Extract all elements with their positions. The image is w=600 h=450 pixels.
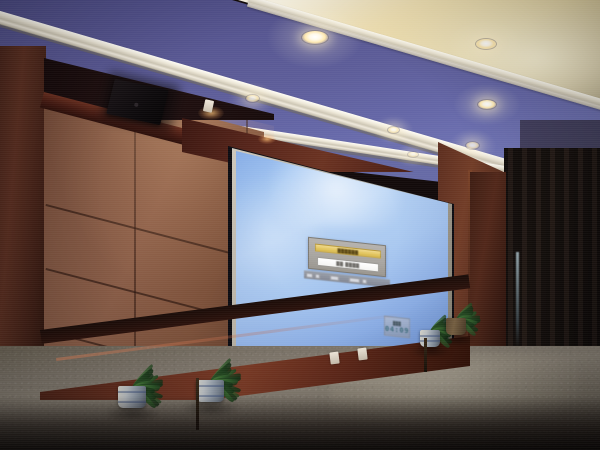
clock-widget-time: 04:09 bbox=[385, 324, 409, 335]
login-dialog-title-bar: ██████ bbox=[315, 244, 381, 259]
pot-decorative-band bbox=[196, 385, 224, 387]
room-photo-scene: ██████ ██ ████ ███ 04:09 bbox=[0, 0, 600, 450]
login-dialog-title-text: ██████ bbox=[338, 247, 359, 254]
taskbar-item[interactable] bbox=[362, 278, 367, 284]
taskbar-item[interactable] bbox=[315, 273, 320, 279]
plant-right bbox=[446, 292, 498, 341]
wall-plate-lower-right bbox=[357, 347, 367, 360]
wall-plate-lower-left bbox=[329, 351, 339, 364]
downlight-7-lamp bbox=[476, 39, 496, 49]
pot-decorative-band bbox=[118, 391, 146, 393]
curtain-light-gap bbox=[516, 252, 519, 348]
taskbar-item[interactable] bbox=[306, 272, 313, 278]
plant-pot bbox=[446, 318, 466, 335]
downlight-6-lamp bbox=[466, 142, 479, 149]
downlight-4-lamp bbox=[408, 152, 418, 157]
taskbar-item[interactable] bbox=[330, 275, 339, 281]
downlight-5-lamp bbox=[478, 100, 496, 109]
downlight-2-lamp bbox=[246, 95, 259, 102]
plant-stand-pole bbox=[424, 338, 427, 372]
clock-widget[interactable]: ███ 04:09 bbox=[384, 316, 410, 339]
wall-spot-glow-2 bbox=[258, 134, 276, 144]
login-dialog-input-text: ██ ████ bbox=[336, 261, 359, 269]
downlight-3-lamp bbox=[388, 127, 399, 133]
login-dialog-input[interactable]: ██ ████ bbox=[317, 257, 379, 273]
taskbar-item[interactable] bbox=[349, 277, 360, 283]
downlight-1-lamp bbox=[302, 31, 328, 44]
foreground-shadow bbox=[0, 396, 600, 450]
